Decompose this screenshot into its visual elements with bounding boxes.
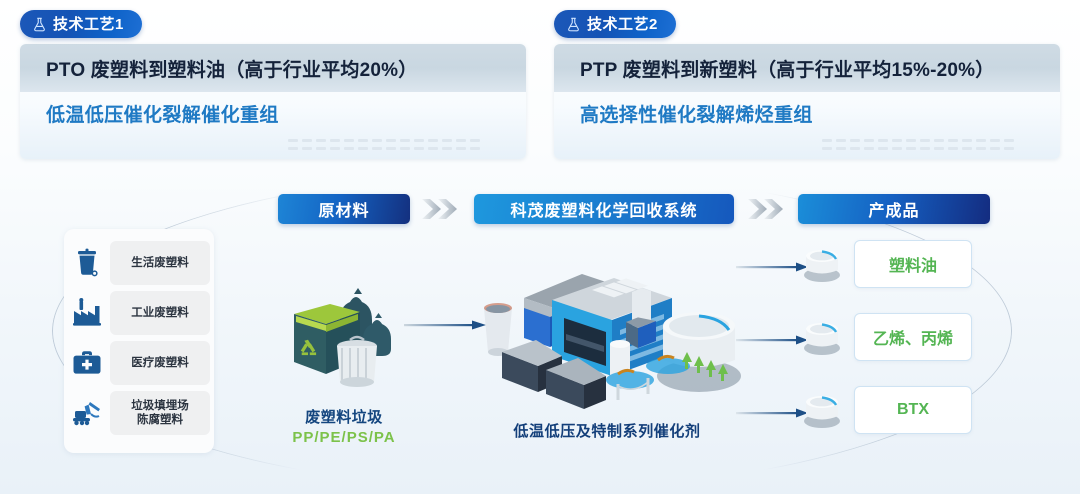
flask-icon [32, 17, 47, 32]
source-item-medical[interactable]: 医疗废塑料 [70, 341, 210, 385]
panel-2-subtitle-row: 高选择性催化裂解烯烃重组 [554, 92, 1060, 159]
system-caption: 低温低压及特制系列催化剂 [468, 420, 746, 441]
panel-2-subtitle: 高选择性催化裂解烯烃重组 [580, 100, 813, 127]
flow-arrow-product-1 [736, 260, 808, 272]
panel-1-body: PTO 废塑料到塑料油（高于行业平均20%） 低温低压催化裂解催化重组 [20, 44, 526, 159]
source-item-industrial-label: 工业废塑料 [110, 291, 210, 335]
panel-1-title-row: PTO 废塑料到塑料油（高于行业平均20%） [20, 44, 526, 92]
panel-2-badge: 技术工艺2 [554, 10, 676, 38]
process-panel-2: 技术工艺2 PTP 废塑料到新塑料（高于行业平均15%-20%） 高选择性催化裂… [554, 0, 1060, 170]
source-item-landfill[interactable]: 垃圾填埋场 陈腐塑料 [70, 391, 210, 435]
medical-kit-icon [70, 346, 104, 380]
product-item-2-label: 乙烯、丙烯 [854, 313, 972, 361]
source-item-landfill-label: 垃圾填埋场 陈腐塑料 [110, 391, 210, 435]
storage-tank-icon [800, 390, 844, 430]
recycling-flow-diagram: 原材料 科茂废塑料化学回收系统 产成品 [0, 168, 1080, 494]
product-item-1-label: 塑料油 [854, 240, 972, 288]
trash-bin-icon [70, 246, 104, 280]
raw-material-caption-line2: PP/PE/PS/PA [268, 429, 420, 446]
chevron-right-icon [746, 196, 786, 222]
raw-material-caption-line1: 废塑料垃圾 [268, 406, 420, 427]
storage-tank-icon [800, 317, 844, 357]
process-panels: 技术工艺1 PTO 废塑料到塑料油（高于行业平均20%） 低温低压催化裂解催化重… [0, 0, 1080, 170]
flow-arrow-product-2 [736, 333, 808, 345]
panel-2-badge-label: 技术工艺2 [587, 17, 658, 32]
flow-arrow-product-3 [736, 406, 808, 418]
excavator-icon [70, 396, 104, 430]
waste-source-list: 生活废塑料 工业废塑料 医疗废塑料 [64, 229, 214, 453]
panel-2-body: PTP 废塑料到新塑料（高于行业平均15%-20%） 高选择性催化裂解烯烃重组 [554, 44, 1060, 159]
panel-1-subtitle: 低温低压催化裂解催化重组 [46, 100, 279, 127]
factory-icon [70, 296, 104, 330]
chevron-right-icon [420, 196, 460, 222]
process-panel-1: 技术工艺1 PTO 废塑料到塑料油（高于行业平均20%） 低温低压催化裂解催化重… [20, 0, 526, 170]
panel-2-dash-decoration [822, 139, 1014, 151]
source-item-household-label: 生活废塑料 [110, 241, 210, 285]
recycling-bin-illustration [280, 268, 408, 396]
system-caption-line1: 低温低压及特制系列催化剂 [468, 420, 746, 441]
panel-1-title: PTO 废塑料到塑料油（高于行业平均20%） [46, 55, 417, 82]
flask-icon [566, 17, 581, 32]
panel-1-badge: 技术工艺1 [20, 10, 142, 38]
panel-1-subtitle-row: 低温低压催化裂解催化重组 [20, 92, 526, 159]
source-item-industrial[interactable]: 工业废塑料 [70, 291, 210, 335]
panel-2-title: PTP 废塑料到新塑料（高于行业平均15%-20%） [580, 55, 994, 82]
product-item-2[interactable]: 乙烯、丙烯 [800, 313, 972, 361]
panel-1-dash-decoration [288, 139, 480, 151]
raw-material-caption: 废塑料垃圾 PP/PE/PS/PA [268, 406, 420, 446]
source-item-medical-label: 医疗废塑料 [110, 341, 210, 385]
panel-2-title-row: PTP 废塑料到新塑料（高于行业平均15%-20%） [554, 44, 1060, 92]
product-item-3-label: BTX [854, 386, 972, 434]
product-item-3[interactable]: BTX [800, 386, 972, 434]
storage-tank-icon [800, 244, 844, 284]
stage-header-system: 科茂废塑料化学回收系统 [474, 194, 734, 224]
panel-1-badge-label: 技术工艺1 [53, 17, 124, 32]
stage-header-raw-material: 原材料 [278, 194, 410, 224]
source-item-household[interactable]: 生活废塑料 [70, 241, 210, 285]
product-item-1[interactable]: 塑料油 [800, 240, 972, 288]
stage-header-products: 产成品 [798, 194, 990, 224]
industrial-plant-illustration [468, 256, 744, 412]
